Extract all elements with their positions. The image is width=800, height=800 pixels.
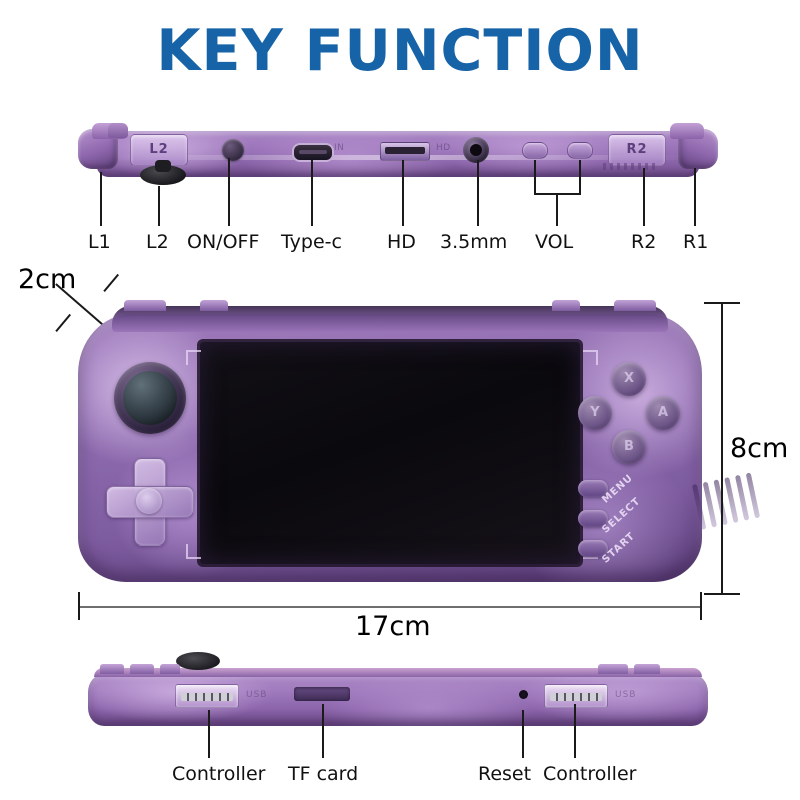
power-button <box>222 139 244 161</box>
leader-line-vol <box>556 193 558 226</box>
leader-line-l2 <box>158 186 160 226</box>
dimension-line-height <box>721 302 723 594</box>
leader-line-typec <box>311 160 313 226</box>
volume-down-button <box>522 142 548 159</box>
label-reset: Reset <box>478 763 531 785</box>
leader-line-onoff <box>228 158 230 226</box>
dimension-cap-width-right <box>700 592 702 620</box>
label-controller-left: Controller <box>172 763 265 785</box>
label-controller-right: Controller <box>543 763 636 785</box>
label-r2: R2 <box>631 231 656 253</box>
dimension-cap-depth-start <box>55 314 70 332</box>
l2-shoulder-front <box>200 300 228 311</box>
top-edge-view: L2 R2 IN HD <box>78 123 718 185</box>
leader-line-l1 <box>100 172 102 226</box>
page-title: KEY FUNCTION <box>0 22 800 82</box>
volume-up-button <box>567 142 593 159</box>
game-screen <box>200 342 580 564</box>
leader-line-controller-right <box>574 704 576 758</box>
silk-label-in: IN <box>334 143 344 153</box>
label-3.5mm: 3.5mm <box>440 231 507 253</box>
r1-shoulder-front <box>614 300 656 311</box>
dimension-label-height: 8cm <box>730 433 788 464</box>
r2-trigger: R2 <box>608 134 666 166</box>
dpad <box>106 458 192 544</box>
usb-type-c-port <box>292 143 334 162</box>
leader-line-vol-left <box>534 160 536 194</box>
button-b: B <box>612 430 646 464</box>
label-l2: L2 <box>146 231 169 253</box>
label-l1: L1 <box>88 231 111 253</box>
usb-a-port-right <box>544 684 608 708</box>
label-vol: VOL <box>535 231 573 253</box>
headphone-jack-3.5mm <box>463 137 489 163</box>
analog-stick-bottom-profile <box>176 652 220 670</box>
shoulder-button-bottom-3 <box>160 664 180 674</box>
screen-bezel-corner-top-right <box>583 350 598 365</box>
dimension-cap-depth-end <box>103 274 118 292</box>
button-x: X <box>612 362 646 396</box>
leader-line-tfcard <box>322 704 324 758</box>
shoulder-button-bottom-2 <box>130 664 154 674</box>
label-typec: Type-c <box>281 231 342 253</box>
speaker-grille <box>692 472 762 530</box>
dimension-label-depth: 2cm <box>18 264 76 295</box>
tf-card-slot <box>294 687 350 701</box>
leader-line-jack <box>477 160 479 226</box>
leader-line-vol-right <box>579 160 581 194</box>
button-a: A <box>646 396 680 430</box>
screen-bezel-corner-top-left <box>186 350 201 365</box>
leader-line-hd <box>402 160 404 226</box>
label-r1: R1 <box>683 231 708 253</box>
leader-line-r2 <box>643 168 645 226</box>
shoulder-button-bottom-4 <box>598 664 628 674</box>
leader-line-controller-left <box>208 710 210 758</box>
diagram-canvas: KEY FUNCTION L2 R2 IN HD L1 L2 ON/OFF Ty… <box>0 0 800 800</box>
reset-pinhole <box>519 690 528 699</box>
shoulder-button-bottom-5 <box>634 664 660 674</box>
analog-stick <box>114 362 186 434</box>
dimension-cap-height-top <box>704 302 740 304</box>
bottom-edge-view: USB USB <box>78 668 718 730</box>
screen-bezel-corner-bottom-left <box>186 544 201 559</box>
dimension-cap-height-bottom <box>704 593 740 595</box>
button-y: Y <box>578 396 612 430</box>
r2-shoulder-front <box>552 300 580 311</box>
l1-nub-secondary <box>108 123 128 138</box>
usb-a-port-left <box>175 684 239 708</box>
leader-line-r1 <box>694 168 696 226</box>
dimension-label-width: 17cm <box>355 611 431 642</box>
label-tfcard: TF card <box>288 763 358 785</box>
front-top-edge <box>112 306 668 332</box>
dimension-line-width <box>78 606 702 608</box>
label-onoff: ON/OFF <box>187 231 259 253</box>
top-edge-grille <box>603 163 659 170</box>
silk-label-usb-right: USB <box>615 690 636 700</box>
dimension-cap-width-left <box>78 592 80 620</box>
silk-label-hd: HD <box>436 143 451 153</box>
front-view: X Y A B MENU SELECT START <box>78 300 702 590</box>
analog-stick-top-profile <box>140 165 186 185</box>
dpad-center <box>136 488 162 514</box>
shoulder-button-bottom-1 <box>100 664 124 674</box>
silk-label-usb-left: USB <box>246 690 267 700</box>
leader-line-reset <box>522 710 524 758</box>
label-hd: HD <box>387 231 416 253</box>
r1-nub <box>670 123 704 139</box>
hdmi-port <box>380 142 430 161</box>
l1-shoulder-front <box>124 300 166 311</box>
